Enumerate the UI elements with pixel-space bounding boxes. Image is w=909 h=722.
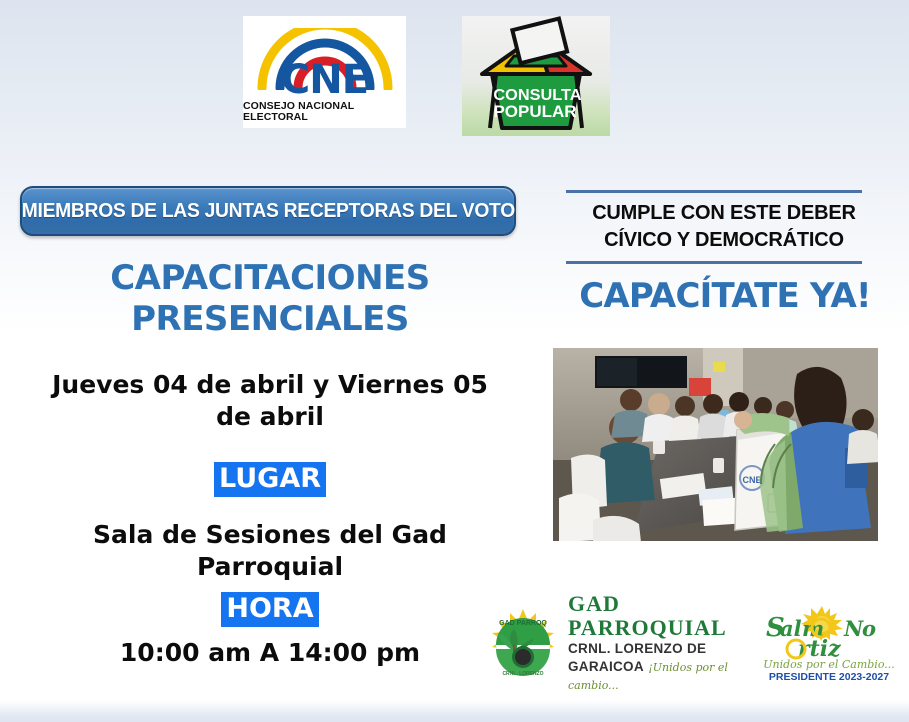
venue-line2: Parroquial xyxy=(197,552,343,581)
right-column: CUMPLE CON ESTE DEBER CÍVICO Y DEMOCRÁTI… xyxy=(556,190,896,317)
audience-banner: MIEMBROS DE LAS JUNTAS RECEPTORAS DEL VO… xyxy=(20,186,516,236)
svg-text:POPULAR: POPULAR xyxy=(493,102,576,121)
salomon-ortiz-logo: S al m N o rtiz Unidos por el Cambio... … xyxy=(758,600,900,684)
place-keyword-row: LUGAR xyxy=(0,462,540,497)
logo-row: CNE CONSEJO NACIONAL ELECTORAL xyxy=(0,8,909,136)
event-dates-line2: de abril xyxy=(216,402,324,431)
svg-text:N: N xyxy=(843,616,864,641)
page-title-line1: CAPACITACIONES xyxy=(110,258,430,298)
svg-text:o: o xyxy=(862,616,876,641)
venue-line1: Sala de Sesiones del Gad xyxy=(93,520,447,549)
gad-parroquial-seal-icon: GAD PARROQ CRNL. LORENZO xyxy=(484,605,562,681)
time-keyword: HORA xyxy=(221,592,318,627)
time-keyword-row: HORA xyxy=(0,592,540,627)
audience-banner-label: MIEMBROS DE LAS JUNTAS RECEPTORAS DEL VO… xyxy=(21,199,514,223)
duty-message: CUMPLE CON ESTE DEBER CÍVICO Y DEMOCRÁTI… xyxy=(566,193,882,257)
consulta-popular-logo: CONSULTA POPULAR xyxy=(462,16,610,136)
rule-bottom xyxy=(566,261,862,264)
gad-title: GAD PARROQUIAL xyxy=(568,591,727,640)
page-title-line2: PRESENCIALES xyxy=(0,299,540,340)
event-dates-line1: Jueves 04 de abril y Viernes 05 xyxy=(52,370,488,399)
svg-text:Unidos por el Cambio...: Unidos por el Cambio... xyxy=(763,658,895,671)
cta-text: CAPACÍTATE YA! xyxy=(560,276,890,317)
duty-message-line2: CÍVICO Y DEMOCRÁTICO xyxy=(604,229,844,251)
svg-text:CRNL. LORENZO: CRNL. LORENZO xyxy=(502,671,543,677)
poster-sheet: CNE CONSEJO NACIONAL ELECTORAL xyxy=(0,0,909,700)
time-value: 10:00 am A 14:00 pm xyxy=(0,637,540,668)
page-title: CAPACITACIONES PRESENCIALES xyxy=(0,258,540,341)
svg-text:PRESIDENTE 2023-2027: PRESIDENTE 2023-2027 xyxy=(769,671,889,683)
gad-parroquial-logo: GAD PARROQ CRNL. LORENZO GAD PARROQUIAL … xyxy=(484,604,746,682)
cne-acronym: CNE xyxy=(281,60,368,100)
duty-message-line1: CUMPLE CON ESTE DEBER xyxy=(592,202,856,224)
cne-full-name: CONSEJO NACIONAL ELECTORAL xyxy=(243,101,406,122)
gad-parroquial-text: GAD PARROQUIAL CRNL. LORENZO DE GARAICOA… xyxy=(568,592,746,694)
svg-text:CNE: CNE xyxy=(742,475,761,485)
ballot-box-icon: CONSULTA POPULAR xyxy=(462,16,610,136)
training-session-photo: CNE xyxy=(553,348,878,541)
venue: Sala de Sesiones del Gad Parroquial xyxy=(0,519,540,584)
event-dates: Jueves 04 de abril y Viernes 05 de abril xyxy=(0,369,540,434)
cne-logo: CNE CONSEJO NACIONAL ELECTORAL xyxy=(243,16,406,128)
svg-text:GAD PARROQ: GAD PARROQ xyxy=(499,620,547,627)
place-keyword: LUGAR xyxy=(214,462,326,497)
left-column: MIEMBROS DE LAS JUNTAS RECEPTORAS DEL VO… xyxy=(0,186,540,668)
bottom-band xyxy=(0,700,909,722)
